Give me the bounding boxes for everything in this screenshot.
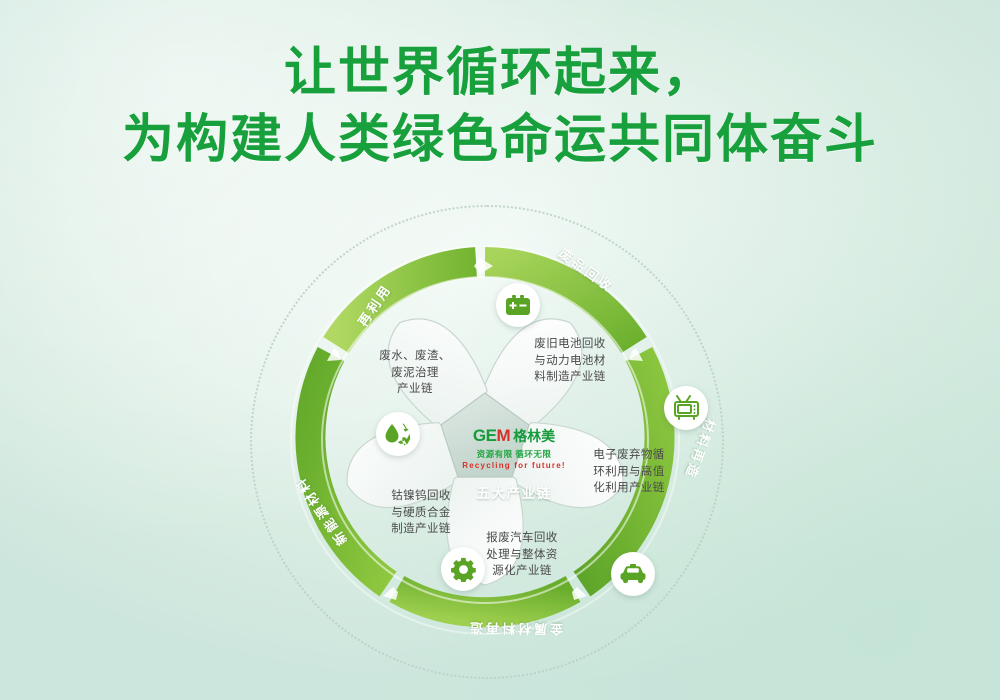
- gem-red-accent: M: [496, 426, 510, 445]
- brand-slogan-en: Recycling for future!: [459, 461, 569, 470]
- ring-label-metal-remake: 金属材料再造: [467, 619, 563, 640]
- television-icon: [664, 386, 708, 430]
- page-title-line2: 为构建人类绿色命运共同体奋斗: [0, 107, 1000, 174]
- chain-text-cobalt-nickel: 钴镍钨回收 与硬质合金 制造产业链: [371, 488, 471, 538]
- chain-text-battery: 废旧电池回收 与动力电池材 料制造产业链: [516, 336, 624, 386]
- recycle-drop-icon: [376, 412, 420, 456]
- car-icon: [611, 552, 655, 596]
- page-title: 让世界循环起来， 为构建人类绿色命运共同体奋斗: [0, 40, 1000, 173]
- page-title-line1: 让世界循环起来，: [0, 40, 1000, 107]
- chain-text-e-waste: 电子废弃物循 环利用与高值 化利用产业链: [582, 447, 676, 497]
- brand-center: GEM 格林美 资源有限 循环无限 Recycling for future! …: [459, 418, 569, 514]
- chain-text-scrap-car: 报废汽车回收 处理与整体资 源化产业链: [470, 530, 574, 580]
- brand-name-cn: 格林美: [513, 426, 555, 446]
- chain-text-waste-water: 废水、废渣、 废泥治理 产业链: [363, 348, 467, 398]
- brand-slogan-cn: 资源有限 循环无限: [459, 448, 569, 460]
- gem-wordmark: GEM: [473, 426, 510, 446]
- brand-logo: GEM 格林美: [459, 426, 569, 446]
- recycling-cycle-diagram: 废品回收 再利用 材料再造 金属材料再造 新能源材料: [245, 200, 755, 680]
- gear-icon: [441, 547, 485, 591]
- battery-icon: [496, 283, 540, 327]
- five-chain-label: 五大产业链: [459, 482, 569, 502]
